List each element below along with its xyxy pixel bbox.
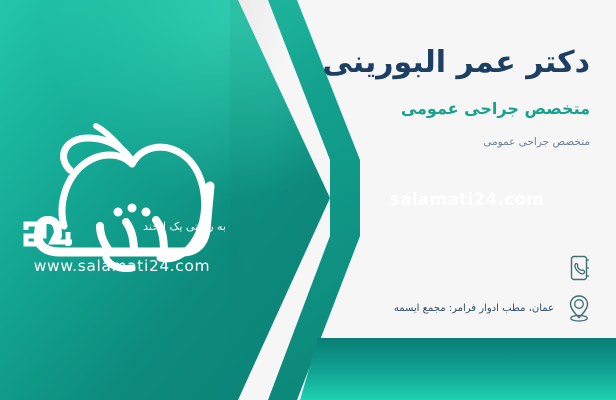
logo-diacritic-2	[128, 204, 137, 213]
bottom-bar-website: salamati24.com	[318, 0, 616, 400]
logo-diacritic-3	[142, 208, 151, 217]
logo-tagline: به راحتی یک لبخند	[143, 220, 226, 233]
business-card: به راحتی یک لبخند www.salamati24.com دکت…	[0, 0, 616, 400]
logo-apple-left	[62, 155, 132, 226]
logo-diacritic-1	[114, 208, 123, 217]
